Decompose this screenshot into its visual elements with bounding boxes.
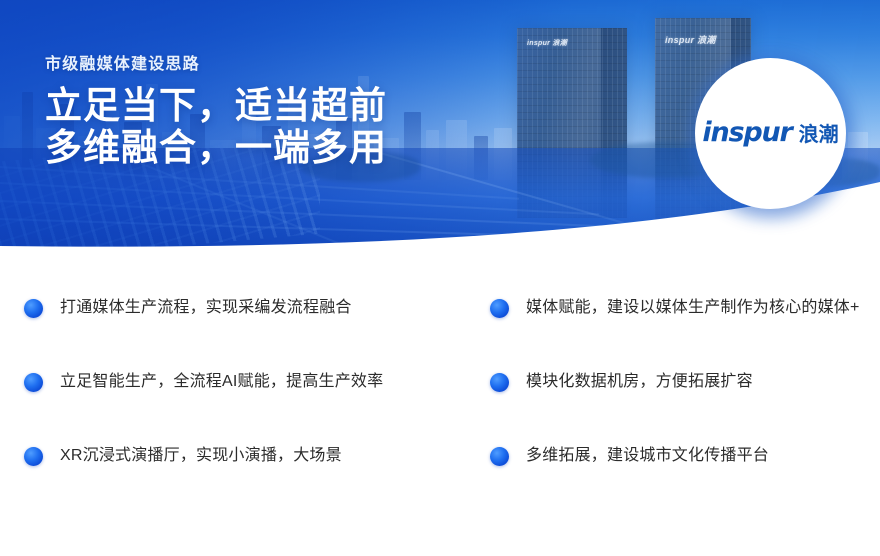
bullet-item-left-3: XR沉浸式演播厅，实现小演播，大场景 xyxy=(0,444,468,518)
bullet-label: 媒体赋能，建设以媒体生产制作为核心的媒体+ xyxy=(526,296,860,319)
bullet-item-right-2: 模块化数据机房，方便拓展扩容 xyxy=(468,370,880,444)
bullet-item-right-1: 媒体赋能，建设以媒体生产制作为核心的媒体+ xyxy=(468,296,880,370)
bullet-label: XR沉浸式演播厅，实现小演播，大场景 xyxy=(60,444,342,467)
inspur-wordmark: inspur xyxy=(702,117,791,148)
bullet-item-left-1: 打通媒体生产流程，实现采编发流程融合 xyxy=(0,296,468,370)
tower-sign-left-label: inspur 浪潮 xyxy=(527,38,567,48)
bullet-dot-icon xyxy=(490,299,509,318)
hero-text-block: 市级融媒体建设思路 立足当下，适当超前 多维融合，一端多用 xyxy=(45,55,387,168)
bullet-dot-icon xyxy=(490,447,509,466)
bullet-dot-icon xyxy=(24,299,43,318)
hero-title-line-2: 多维融合，一端多用 xyxy=(45,127,387,169)
slide-root: inspur 浪潮 inspur 浪潮 市 xyxy=(0,0,880,556)
hero-kicker: 市级融媒体建设思路 xyxy=(45,55,387,76)
bullet-dot-icon xyxy=(24,447,43,466)
bullet-item-left-2: 立足智能生产，全流程AI赋能，提高生产效率 xyxy=(0,370,468,444)
bullet-grid: 打通媒体生产流程，实现采编发流程融合 媒体赋能，建设以媒体生产制作为核心的媒体+… xyxy=(0,296,880,518)
bullet-dot-icon xyxy=(490,373,509,392)
bullet-label: 多维拓展，建设城市文化传播平台 xyxy=(526,444,769,467)
bullet-label: 打通媒体生产流程，实现采编发流程融合 xyxy=(60,296,352,319)
hero-title-line-1: 立足当下，适当超前 xyxy=(45,85,387,127)
inspur-logo-badge: inspur 浪潮 xyxy=(695,58,846,209)
tower-sign-right-label: inspur 浪潮 xyxy=(665,33,716,46)
bullet-label: 模块化数据机房，方便拓展扩容 xyxy=(526,370,753,393)
bullet-item-right-3: 多维拓展，建设城市文化传播平台 xyxy=(468,444,880,518)
bullet-label: 立足智能生产，全流程AI赋能，提高生产效率 xyxy=(60,370,383,393)
inspur-chinese-name: 浪潮 xyxy=(799,118,839,147)
bullet-dot-icon xyxy=(24,373,43,392)
